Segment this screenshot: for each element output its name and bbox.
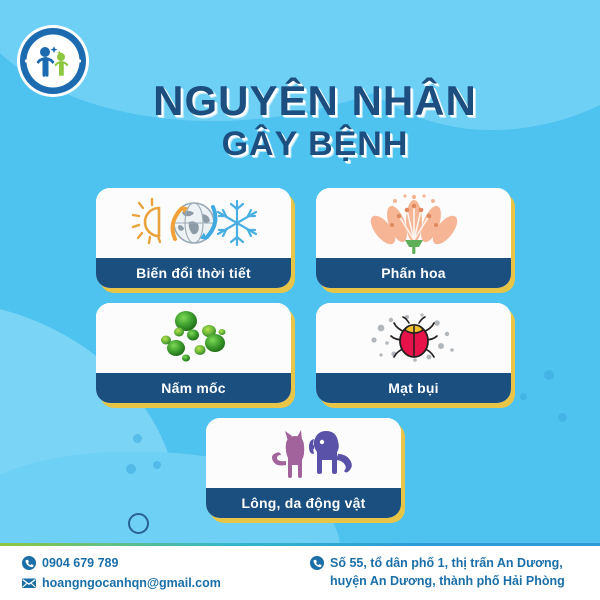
phone-location-icon (310, 556, 324, 570)
cause-card-pollen[interactable]: Phấn hoa (316, 188, 511, 288)
cause-card-label: Nấm mốc (96, 373, 291, 403)
decor-dot (558, 413, 567, 422)
decor-dot (544, 370, 554, 380)
cause-card-weather[interactable]: Biến đổi thời tiết (96, 188, 291, 288)
decor-dot (153, 461, 161, 469)
decor-dot (133, 434, 142, 443)
cause-card-pets[interactable]: Lông, da động vật (206, 418, 401, 518)
decor-ring (128, 513, 149, 534)
cause-card-mold[interactable]: Nấm mốc (96, 303, 291, 403)
decor-dot (520, 393, 527, 400)
poster-canvas: PHÒNG KHÁM NHI KHOA THS.BSCKII HOÀNG NGỌ… (0, 0, 600, 600)
footer-address-text: Số 55, tổ dân phố 1, thị trấn An Dương, … (330, 554, 565, 590)
mold-spores-icon (96, 303, 291, 373)
weather-change-icon (96, 188, 291, 258)
title-line-1: NGUYÊN NHÂN (30, 78, 600, 123)
decor-dot (126, 464, 136, 474)
poster-title: NGUYÊN NHÂN GÂY BỆNH (0, 78, 600, 166)
cause-card-label: Mạt bụi (316, 373, 511, 403)
footer-phone-row: 0904 679 789 (22, 554, 221, 572)
cat-dog-icon (206, 418, 401, 488)
footer-address-line-1: Số 55, tổ dân phố 1, thị trấn An Dương, (330, 556, 563, 570)
footer-address-line-2: huyện An Dương, thành phố Hải Phòng (330, 574, 565, 588)
cause-card-label: Lông, da động vật (206, 488, 401, 518)
phone-icon (22, 556, 36, 570)
email-icon (22, 576, 36, 590)
footer-email-text[interactable]: hoangngocanhqn@gmail.com (42, 574, 221, 592)
title-line-2: GÂY BỆNH (30, 123, 600, 166)
poster-footer: 0904 679 789 hoangngocanhqn@gmail.com (0, 546, 600, 600)
footer-contact-block: 0904 679 789 hoangngocanhqn@gmail.com (22, 554, 221, 594)
cause-card-label: Phấn hoa (316, 258, 511, 288)
cause-card-dustmite[interactable]: Mạt bụi (316, 303, 511, 403)
pollen-flower-icon (316, 188, 511, 258)
footer-address-row: Số 55, tổ dân phố 1, thị trấn An Dương, … (310, 554, 565, 590)
cause-card-label: Biến đổi thời tiết (96, 258, 291, 288)
footer-address-block: Số 55, tổ dân phố 1, thị trấn An Dương, … (310, 554, 565, 592)
dust-mite-icon (316, 303, 511, 373)
footer-phone-text[interactable]: 0904 679 789 (42, 554, 118, 572)
footer-email-row: hoangngocanhqn@gmail.com (22, 574, 221, 592)
